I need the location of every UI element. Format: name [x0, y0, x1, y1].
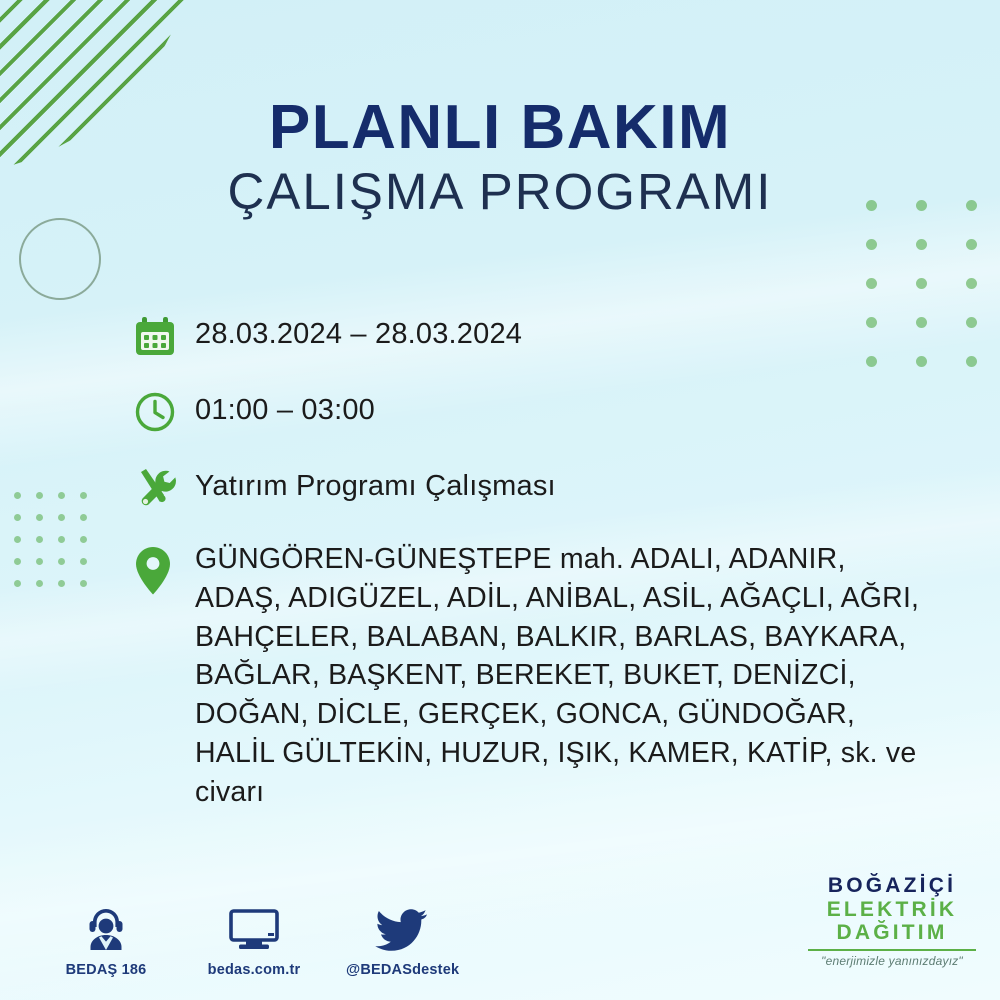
contact-phone-label: BEDAŞ 186: [50, 962, 162, 978]
page-subtitle: ÇALIŞMA PROGRAMI: [0, 163, 1000, 220]
poster-header: PLANLI BAKIM ÇALIŞMA PROGRAMI: [0, 96, 1000, 220]
detail-row-location: GÜNGÖREN-GÜNEŞTEPE mah. ADALI, ADANIR, A…: [133, 540, 953, 811]
poster-footer: BEDAŞ 186 bedas.com.tr: [0, 872, 1000, 982]
planned-maintenance-poster: PLANLI BAKIM ÇALIŞMA PROGRAMI: [0, 0, 1000, 1000]
detail-date-text: 28.03.2024 – 28.03.2024: [195, 312, 522, 353]
page-title: PLANLI BAKIM: [0, 96, 1000, 159]
detail-location-text: GÜNGÖREN-GÜNEŞTEPE mah. ADALI, ADANIR, A…: [195, 540, 935, 811]
circle-outline-decoration: [19, 218, 101, 300]
logo-tagline: "enerjimizle yanınızdayız": [802, 954, 982, 968]
detail-row-date: 28.03.2024 – 28.03.2024: [133, 312, 953, 366]
contact-twitter[interactable]: @BEDASdestek: [346, 899, 458, 978]
bedas-logo: BOĞAZİÇİ ELEKTRİK DAĞITIM "enerjimizle y…: [802, 874, 982, 968]
logo-line-bogazici: BOĞAZİÇİ: [802, 874, 982, 898]
contact-twitter-label: @BEDASdestek: [346, 962, 458, 978]
dot-grid-decoration-left: [14, 492, 102, 602]
contact-channels: BEDAŞ 186 bedas.com.tr: [50, 899, 458, 978]
headset-agent-icon: [50, 899, 162, 953]
twitter-bird-icon: [346, 899, 458, 953]
logo-line-dagitim: DAĞITIM: [802, 921, 982, 945]
maintenance-details: 28.03.2024 – 28.03.2024 01:00 – 03:00: [133, 312, 953, 833]
contact-website[interactable]: bedas.com.tr: [198, 899, 310, 978]
detail-time-text: 01:00 – 03:00: [195, 388, 375, 429]
contact-website-label: bedas.com.tr: [198, 962, 310, 978]
monitor-icon: [198, 899, 310, 953]
location-pin-icon: [133, 540, 195, 598]
detail-worktype-text: Yatırım Programı Çalışması: [195, 464, 556, 505]
clock-icon: [133, 388, 195, 442]
logo-line-elektrik: ELEKTRİK: [802, 898, 982, 922]
calendar-icon: [133, 312, 195, 366]
contact-phone[interactable]: BEDAŞ 186: [50, 899, 162, 978]
detail-row-time: 01:00 – 03:00: [133, 388, 953, 442]
logo-divider: [808, 949, 976, 951]
tools-icon: [133, 464, 195, 518]
detail-row-worktype: Yatırım Programı Çalışması: [133, 464, 953, 518]
